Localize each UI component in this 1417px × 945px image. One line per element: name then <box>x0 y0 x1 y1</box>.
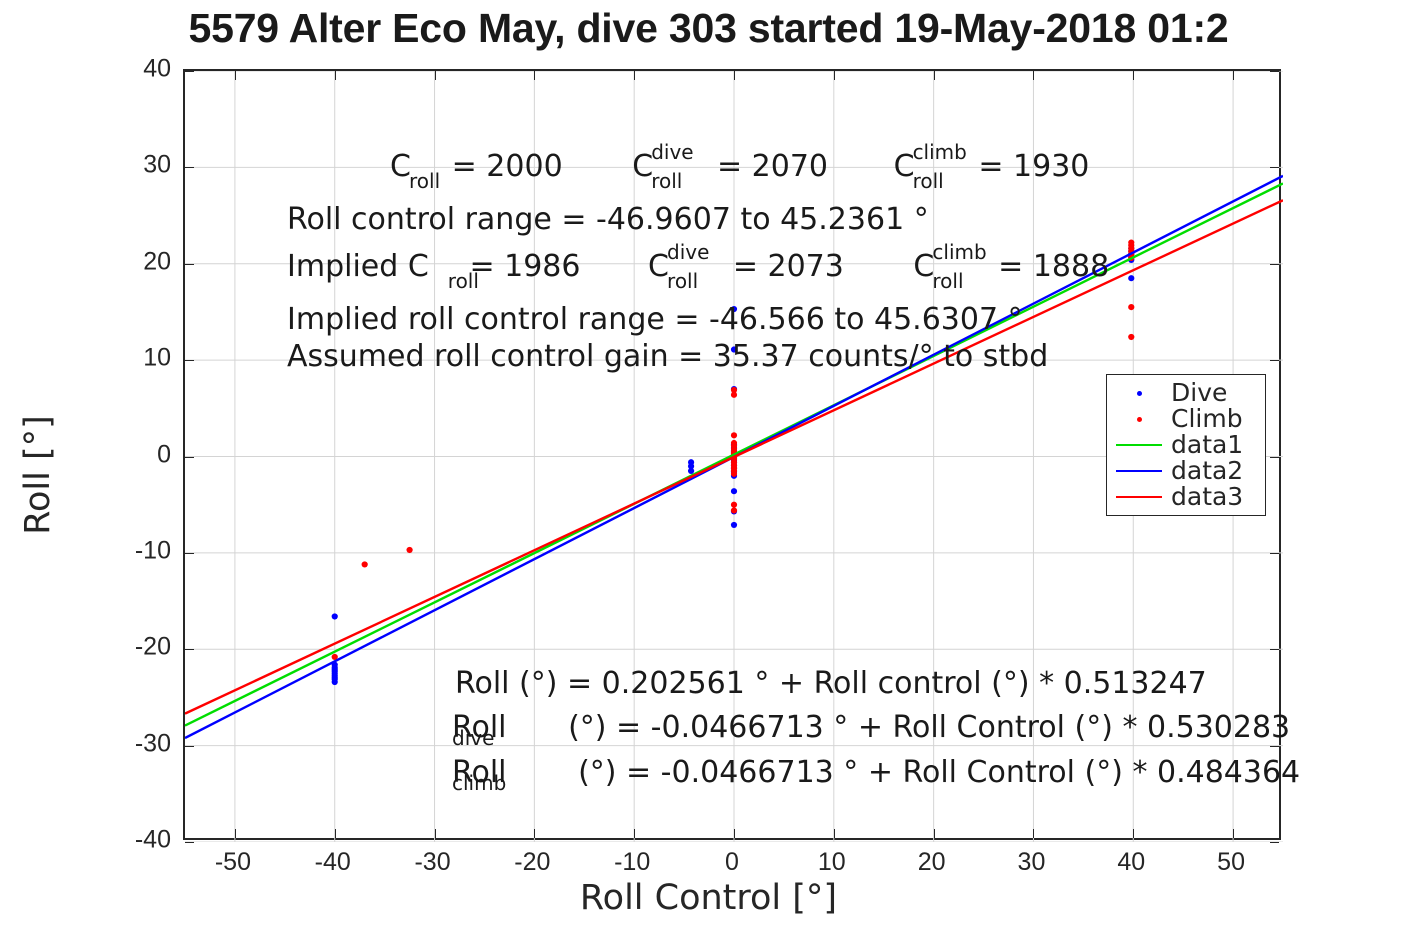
data-point <box>362 561 368 567</box>
x-tick-label: -10 <box>614 848 650 877</box>
y-tick-label: 0 <box>63 440 171 469</box>
y-tick-label: 10 <box>63 344 171 373</box>
x-tick <box>934 829 935 838</box>
data-point <box>1128 304 1134 310</box>
legend-label: Dive <box>1171 380 1227 406</box>
c-climb-term: Cclimb climb roll <box>894 150 969 186</box>
y-tick <box>1270 264 1279 265</box>
chart-root: 5579 Alter Eco May, dive 303 started 19-… <box>0 0 1417 945</box>
y-tick <box>185 71 194 72</box>
x-tick-label: 40 <box>1117 848 1145 877</box>
x-tick <box>335 71 336 80</box>
c-roll-term: Croll roll <box>390 150 442 186</box>
y-tick-label: -40 <box>63 826 171 855</box>
data-point <box>1128 334 1134 340</box>
y-tick <box>1270 71 1279 72</box>
y-tick-label: 30 <box>63 151 171 180</box>
x-tick <box>834 71 835 80</box>
data-point <box>731 488 737 494</box>
y-tick-label: -10 <box>63 536 171 565</box>
implied-dive-term: Cclimb dive roll <box>648 250 723 286</box>
x-tick-label: 10 <box>818 848 846 877</box>
c-climb-value: = 1930 <box>969 149 1090 184</box>
roll-climb-term: Rollclimb <box>452 755 507 790</box>
y-tick <box>185 360 194 361</box>
x-tick <box>834 829 835 838</box>
x-tick <box>634 829 635 838</box>
roll-dive-rest: (°) = -0.0466713 ° + Roll Control (°) * … <box>559 710 1291 745</box>
y-tick <box>1270 553 1279 554</box>
legend-item-data3[interactable]: data3 <box>1107 484 1265 510</box>
x-tick-label: 30 <box>1018 848 1046 877</box>
x-tick <box>734 71 735 80</box>
y-tick <box>1270 746 1279 747</box>
data-point <box>406 547 412 553</box>
legend-label: data2 <box>1171 458 1243 484</box>
x-tick-label: 20 <box>918 848 946 877</box>
legend-key <box>1113 496 1165 498</box>
annotation-c-values: Croll roll = 2000 Cclimb dive roll = 207… <box>390 150 1089 186</box>
y-axis-title: Roll [°] <box>18 215 58 735</box>
y-tick <box>185 553 194 554</box>
y-tick <box>185 167 194 168</box>
legend-marker-line-icon <box>1116 444 1162 446</box>
annotation-assumed-gain: Assumed roll control gain = 35.37 counts… <box>287 340 1048 374</box>
equation-roll: Roll (°) = 0.202561 ° + Roll control (°)… <box>455 666 1207 701</box>
equation-roll-climb: Rollclimb (°) = -0.0466713 ° + Roll Cont… <box>452 755 1300 790</box>
legend-key <box>1113 417 1165 422</box>
legend-marker-line-icon <box>1116 470 1162 472</box>
legend-item-dive[interactable]: Dive <box>1107 380 1265 406</box>
y-tick <box>1270 457 1279 458</box>
y-tick <box>1270 842 1279 843</box>
y-tick-label: -30 <box>63 729 171 758</box>
legend-label: data3 <box>1171 484 1243 510</box>
x-tick <box>235 71 236 80</box>
implied-c-roll-term: rollroll <box>429 250 460 286</box>
x-tick <box>1133 829 1134 838</box>
x-tick-label: -20 <box>514 848 550 877</box>
c-dive-term: Cclimb dive roll <box>632 150 707 186</box>
y-tick <box>185 842 194 843</box>
legend-item-climb[interactable]: Climb <box>1107 406 1265 432</box>
y-tick <box>185 746 194 747</box>
annotation-implied-c-values: Implied Crollroll = 1986 Cclimb dive rol… <box>287 250 1109 286</box>
x-tick-label: -50 <box>215 848 251 877</box>
x-tick <box>1133 71 1134 80</box>
annotation-implied-roll-control-range: Implied roll control range = -46.566 to … <box>287 303 1023 337</box>
x-tick <box>435 71 436 80</box>
legend-item-data2[interactable]: data2 <box>1107 458 1265 484</box>
data-point <box>332 613 338 619</box>
y-tick-label: -20 <box>63 633 171 662</box>
data-point <box>731 392 737 398</box>
legend-label: Climb <box>1171 406 1243 432</box>
x-tick <box>1233 829 1234 838</box>
data-point <box>1128 275 1134 281</box>
data-point <box>731 432 737 438</box>
y-tick <box>185 649 194 650</box>
x-tick <box>1233 71 1234 80</box>
legend-label: data1 <box>1171 432 1243 458</box>
data-point <box>731 502 737 508</box>
x-tick-label: 50 <box>1217 848 1245 877</box>
x-axis-title: Roll Control [°] <box>0 878 1417 918</box>
equation-roll-dive: Rolldive (°) = -0.0466713 ° + Roll Contr… <box>452 710 1290 745</box>
x-tick <box>734 829 735 838</box>
roll-climb-rest: (°) = -0.0466713 ° + Roll Control (°) * … <box>569 755 1301 790</box>
implied-prefix: Implied C <box>287 249 429 284</box>
chart-title: 5579 Alter Eco May, dive 303 started 19-… <box>188 4 1228 52</box>
x-tick <box>1033 829 1034 838</box>
x-tick-label: 0 <box>725 848 739 877</box>
legend-item-data1[interactable]: data1 <box>1107 432 1265 458</box>
c-dive-value: = 2070 <box>707 149 828 184</box>
y-tick-label: 40 <box>63 55 171 84</box>
y-tick <box>1270 360 1279 361</box>
x-tick <box>634 71 635 80</box>
x-tick-label: -30 <box>414 848 450 877</box>
y-tick-label: 20 <box>63 247 171 276</box>
data-point <box>332 679 338 685</box>
legend-key <box>1113 391 1165 396</box>
data-point <box>688 468 694 474</box>
roll-dive-term: Rolldive <box>452 710 507 745</box>
implied-dive-value: = 2073 <box>723 249 844 284</box>
data-point <box>731 471 737 477</box>
x-tick <box>235 829 236 838</box>
legend-key <box>1113 470 1165 472</box>
legend-key <box>1113 444 1165 446</box>
y-tick <box>1270 167 1279 168</box>
x-tick <box>1033 71 1034 80</box>
data-point <box>731 507 737 513</box>
legend-marker-dot-icon <box>1137 391 1142 396</box>
data-point <box>731 522 737 528</box>
x-tick <box>534 829 535 838</box>
x-tick <box>435 829 436 838</box>
implied-climb-term: Cclimb climb roll <box>913 250 988 286</box>
implied-climb-value: = 1888 <box>989 249 1110 284</box>
y-tick <box>185 457 194 458</box>
x-tick <box>934 71 935 80</box>
legend-marker-dot-icon <box>1137 417 1142 422</box>
x-tick-label: -40 <box>315 848 351 877</box>
legend-marker-line-icon <box>1116 496 1162 498</box>
annotation-roll-control-range: Roll control range = -46.9607 to 45.2361… <box>287 203 929 237</box>
y-tick <box>185 264 194 265</box>
y-tick <box>1270 649 1279 650</box>
x-tick <box>335 829 336 838</box>
x-tick <box>534 71 535 80</box>
c-roll-value: = 2000 <box>442 149 563 184</box>
legend[interactable]: DiveClimbdata1data2data3 <box>1106 374 1266 516</box>
